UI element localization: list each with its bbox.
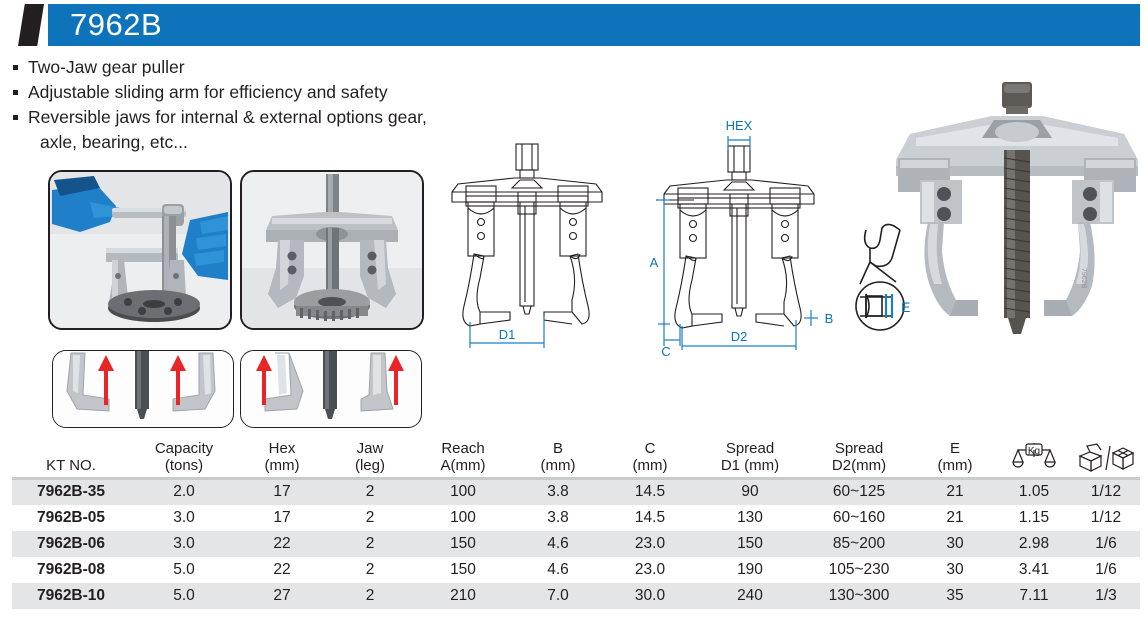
feature-item: Adjustable sliding arm for efficiency an… xyxy=(10,80,570,105)
cell-c: 14.5 xyxy=(604,479,696,505)
header-line-1: B xyxy=(553,440,563,457)
cell-b: 4.6 xyxy=(512,531,604,557)
cell-b: 7.0 xyxy=(512,583,604,609)
cell-e: 21 xyxy=(914,479,996,505)
cell-packing: 1/6 xyxy=(1072,557,1140,583)
feature-item: Two-Jaw gear puller xyxy=(10,55,570,80)
cell-jaw: 2 xyxy=(326,557,414,583)
cell-reach-a: 150 xyxy=(414,557,512,583)
cell-weight: 2.98 xyxy=(996,531,1072,557)
cell-reach-a: 150 xyxy=(414,531,512,557)
cell-weight: 7.11 xyxy=(996,583,1072,609)
table-row: 7962B-053.01721003.814.513060~160211.151… xyxy=(12,505,1140,531)
weight-scale-icon: Kg xyxy=(1012,440,1056,474)
cell-c: 14.5 xyxy=(604,505,696,531)
cell-hex: 22 xyxy=(238,531,326,557)
header-line-2: A(mm) xyxy=(441,457,486,474)
cell-packing: 1/6 xyxy=(1072,531,1140,557)
cell-e: 35 xyxy=(914,583,996,609)
cell-spread-d1: 150 xyxy=(696,531,804,557)
header-line-2: (mm) xyxy=(633,457,668,474)
feature-item: Reversible jaws for internal & external … xyxy=(10,105,570,130)
technical-drawing-front-view: D1 xyxy=(440,130,640,360)
cell-e: 21 xyxy=(914,505,996,531)
photo-puller-on-bearing xyxy=(240,170,424,330)
cell-spread-d2: 105~230 xyxy=(804,557,914,583)
table-header-row: KT NO. Capacity (tons) Hex (mm) Jaw (leg… xyxy=(12,440,1140,479)
column-header-capacity: Capacity (tons) xyxy=(130,440,238,479)
cell-packing: 1/12 xyxy=(1072,479,1140,505)
header-line-2: D2(mm) xyxy=(832,457,886,474)
cell-hex: 27 xyxy=(238,583,326,609)
cell-spread-d2: 130~300 xyxy=(804,583,914,609)
table-row: 7962B-352.01721003.814.59060~125211.051/… xyxy=(12,479,1140,505)
column-header-packing xyxy=(1072,440,1140,479)
cell-hex: 17 xyxy=(238,505,326,531)
cell-kt-no: 7962B-06 xyxy=(12,531,130,557)
cell-reach-a: 210 xyxy=(414,583,512,609)
header-line-1: C xyxy=(645,440,656,457)
page-title: 7962B xyxy=(70,4,162,46)
table-row: 7962B-085.02221504.623.0190105~230303.41… xyxy=(12,557,1140,583)
cell-jaw: 2 xyxy=(326,505,414,531)
cell-kt-no: 7962B-05 xyxy=(12,505,130,531)
dimension-label-a: A xyxy=(650,255,659,270)
header-line-1: E xyxy=(950,440,960,457)
packaging-box-icon xyxy=(1077,442,1135,474)
header-blue-bar xyxy=(48,4,1140,46)
column-header-spread-d2: Spread D2(mm) xyxy=(804,440,914,479)
dimension-label-d2: D2 xyxy=(731,329,748,344)
cell-capacity: 5.0 xyxy=(130,557,238,583)
panel-jaws-external-position xyxy=(52,350,234,428)
cell-spread-d1: 190 xyxy=(696,557,804,583)
cell-spread-d1: 90 xyxy=(696,479,804,505)
cell-packing: 1/12 xyxy=(1072,505,1140,531)
cell-spread-d2: 60~160 xyxy=(804,505,914,531)
column-header-c: C (mm) xyxy=(604,440,696,479)
header-line-1: Jaw xyxy=(357,440,384,457)
cell-spread-d2: 60~125 xyxy=(804,479,914,505)
cell-jaw: 2 xyxy=(326,531,414,557)
header-corner-tab xyxy=(18,4,44,46)
panel-jaws-reversed-internal-position xyxy=(240,350,422,428)
header-line-1: Reach xyxy=(441,440,484,457)
column-header-b: B (mm) xyxy=(512,440,604,479)
specifications-table: KT NO. Capacity (tons) Hex (mm) Jaw (leg… xyxy=(12,440,1140,609)
cell-weight: 1.15 xyxy=(996,505,1072,531)
column-header-weight: Kg xyxy=(996,440,1072,479)
cell-b: 3.8 xyxy=(512,505,604,531)
column-header-reach-a: Reach A(mm) xyxy=(414,440,512,479)
header-line-1: Hex xyxy=(269,440,296,457)
cell-packing: 1/3 xyxy=(1072,583,1140,609)
header-line-2: (tons) xyxy=(165,457,203,474)
column-header-spread-d1: Spread D1 (mm) xyxy=(696,440,804,479)
column-header-jaw: Jaw (leg) xyxy=(326,440,414,479)
header-line-2: (mm) xyxy=(938,457,973,474)
cell-c: 30.0 xyxy=(604,583,696,609)
dimension-label-b: B xyxy=(825,311,834,326)
header-line-2: (mm) xyxy=(541,457,576,474)
table-row: 7962B-063.02221504.623.015085~200302.981… xyxy=(12,531,1140,557)
svg-text:Kg: Kg xyxy=(1028,446,1040,457)
table-row: 7962B-105.02722107.030.0240130~300357.11… xyxy=(12,583,1140,609)
page-header: 7962B xyxy=(0,4,1148,46)
header-line-1: KT NO. xyxy=(46,457,96,474)
cell-weight: 1.05 xyxy=(996,479,1072,505)
cell-capacity: 3.0 xyxy=(130,531,238,557)
cell-hex: 22 xyxy=(238,557,326,583)
cell-capacity: 5.0 xyxy=(130,583,238,609)
cell-jaw: 2 xyxy=(326,583,414,609)
cell-capacity: 2.0 xyxy=(130,479,238,505)
cell-c: 23.0 xyxy=(604,557,696,583)
header-line-1: Capacity xyxy=(155,440,213,457)
cell-spread-d1: 130 xyxy=(696,505,804,531)
technical-drawing-side-view: HEX A B C D2 xyxy=(636,110,856,360)
cell-kt-no: 7962B-10 xyxy=(12,583,130,609)
header-line-2: D1 (mm) xyxy=(721,457,779,474)
column-header-kt-no: KT NO. xyxy=(12,440,130,479)
dimension-label-c: C xyxy=(661,344,670,359)
cell-e: 30 xyxy=(914,531,996,557)
cell-spread-d2: 85~200 xyxy=(804,531,914,557)
cell-b: 3.8 xyxy=(512,479,604,505)
dimension-label-d1: D1 xyxy=(499,327,516,342)
cell-reach-a: 100 xyxy=(414,505,512,531)
column-header-e: E (mm) xyxy=(914,440,996,479)
photo-puller-in-use-on-gear xyxy=(48,170,232,330)
cell-reach-a: 100 xyxy=(414,479,512,505)
column-header-hex: Hex (mm) xyxy=(238,440,326,479)
header-line-1: Spread xyxy=(726,440,774,457)
cell-e: 30 xyxy=(914,557,996,583)
cell-kt-no: 7962B-08 xyxy=(12,557,130,583)
cell-capacity: 3.0 xyxy=(130,505,238,531)
cell-kt-no: 7962B-35 xyxy=(12,479,130,505)
cell-c: 23.0 xyxy=(604,531,696,557)
cell-hex: 17 xyxy=(238,479,326,505)
svg-text:7962B: 7962B xyxy=(1080,268,1087,289)
cell-b: 4.6 xyxy=(512,557,604,583)
cell-jaw: 2 xyxy=(326,479,414,505)
cell-weight: 3.41 xyxy=(996,557,1072,583)
cell-spread-d1: 240 xyxy=(696,583,804,609)
product-catalog-page: 7962B Two-Jaw gear puller Adjustable sli… xyxy=(0,0,1148,640)
header-line-1: Spread xyxy=(835,440,883,457)
header-line-2: (mm) xyxy=(265,457,300,474)
product-photo-main: 7962B xyxy=(886,72,1148,368)
dimension-label-hex: HEX xyxy=(726,118,753,133)
header-line-2: (leg) xyxy=(355,457,385,474)
